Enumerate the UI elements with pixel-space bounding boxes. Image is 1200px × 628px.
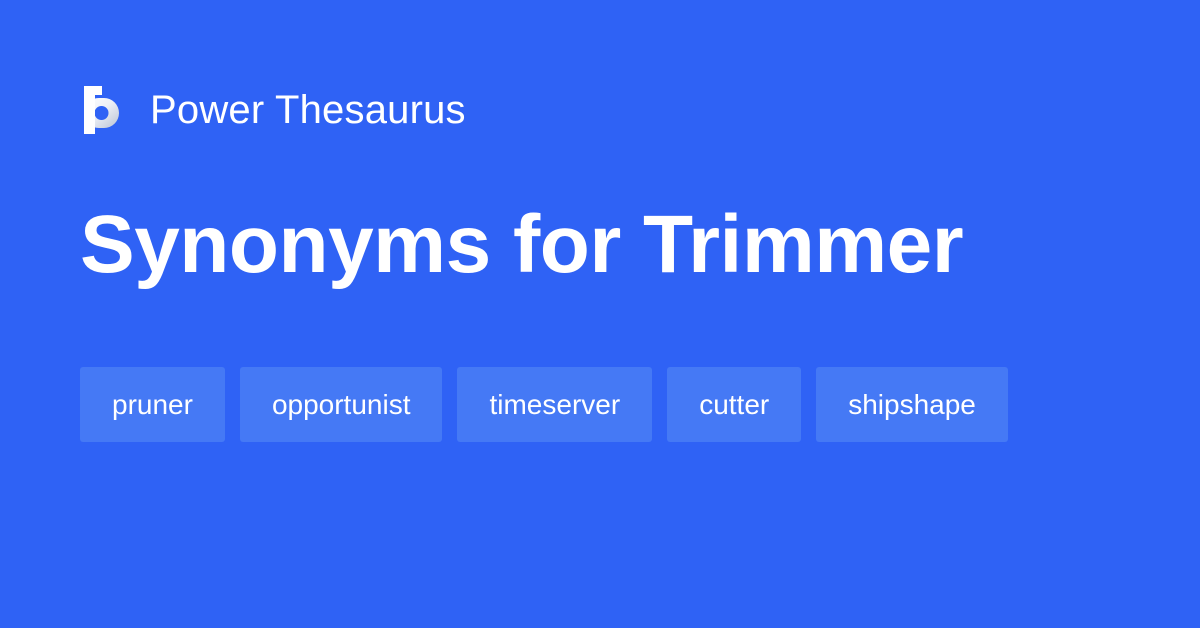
synonym-tag[interactable]: opportunist: [240, 367, 443, 442]
synonym-tag-list: pruner opportunist timeserver cutter shi…: [80, 367, 1140, 442]
synonym-tag[interactable]: pruner: [80, 367, 225, 442]
brand-header[interactable]: Power Thesaurus: [80, 82, 466, 138]
synonym-tag[interactable]: cutter: [667, 367, 801, 442]
brand-name: Power Thesaurus: [150, 86, 466, 134]
synonym-tag[interactable]: shipshape: [816, 367, 1008, 442]
power-thesaurus-logo-icon: [80, 86, 122, 134]
share-card: Power Thesaurus Synonyms for Trimmer pru…: [0, 0, 1200, 628]
synonym-tag[interactable]: timeserver: [457, 367, 652, 442]
page-title: Synonyms for Trimmer: [80, 196, 963, 294]
